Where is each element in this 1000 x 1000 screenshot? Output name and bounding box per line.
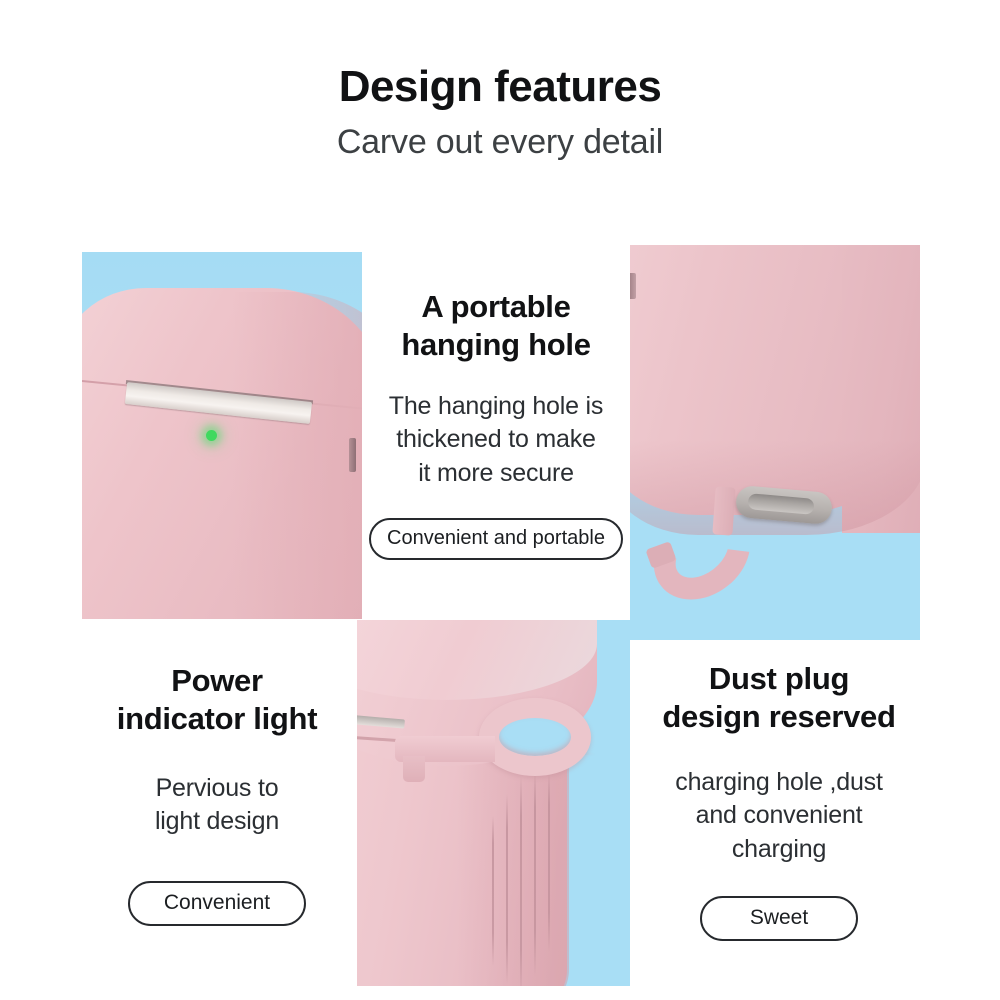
case-shading <box>232 292 362 619</box>
card-heading-line-1: Dust plug <box>640 660 918 698</box>
card-body-line-1: The hanging hole is <box>365 390 627 424</box>
side-button-icon <box>630 273 636 299</box>
card-dust-plug: Dust plug design reserved charging hole … <box>640 660 918 941</box>
card-heading-line-2: indicator light <box>78 700 356 738</box>
power-indicator-photo <box>82 252 362 619</box>
dust-plug-photo <box>357 620 630 986</box>
card-body-line-1: Pervious to <box>78 772 356 806</box>
hanging-hole-photo <box>630 245 920 640</box>
card-heading-line-1: A portable <box>365 288 627 326</box>
card-power-indicator-light: Power indicator light Pervious to light … <box>78 662 356 926</box>
page-subtitle: Carve out every detail <box>0 123 1000 162</box>
card-body-line-3: charging <box>640 833 918 867</box>
infographic-page: Design features Carve out every detail <box>0 0 1000 1000</box>
dust-plug-tab <box>403 756 425 782</box>
texture-lines-icon <box>492 770 582 986</box>
power-led-icon <box>206 430 217 441</box>
dust-plug-ring-icon <box>479 698 591 776</box>
card-body: The hanging hole is thickened to make it… <box>365 390 627 491</box>
card-heading: A portable hanging hole <box>365 288 627 364</box>
card-body-line-2: thickened to make <box>365 423 627 457</box>
texture-line <box>492 816 494 966</box>
header: Design features Carve out every detail <box>0 62 1000 162</box>
card-body-line-3: it more secure <box>365 457 627 491</box>
card-body-line-2: and convenient <box>640 799 918 833</box>
texture-line <box>506 794 508 984</box>
card-body: Pervious to light design <box>78 772 356 839</box>
card-body-line-1: charging hole ,dust <box>640 766 918 800</box>
badge-sweet: Sweet <box>700 896 858 941</box>
card-heading: Dust plug design reserved <box>640 660 918 736</box>
badge-convenient: Convenient <box>128 881 306 926</box>
side-button-icon <box>349 438 356 472</box>
card-heading-line-1: Power <box>78 662 356 700</box>
page-title: Design features <box>0 62 1000 111</box>
badge-convenient-and-portable: Convenient and portable <box>369 518 623 560</box>
card-heading-line-2: design reserved <box>640 698 918 736</box>
texture-line <box>534 770 536 976</box>
card-heading: Power indicator light <box>78 662 356 738</box>
carabiner-stem <box>712 486 735 535</box>
texture-line <box>548 772 550 952</box>
card-body-line-2: light design <box>78 805 356 839</box>
card-heading-line-2: hanging hole <box>365 326 627 364</box>
card-hanging-hole: A portable hanging hole The hanging hole… <box>365 288 627 560</box>
texture-line <box>520 776 522 986</box>
card-body: charging hole ,dust and convenient charg… <box>640 766 918 867</box>
